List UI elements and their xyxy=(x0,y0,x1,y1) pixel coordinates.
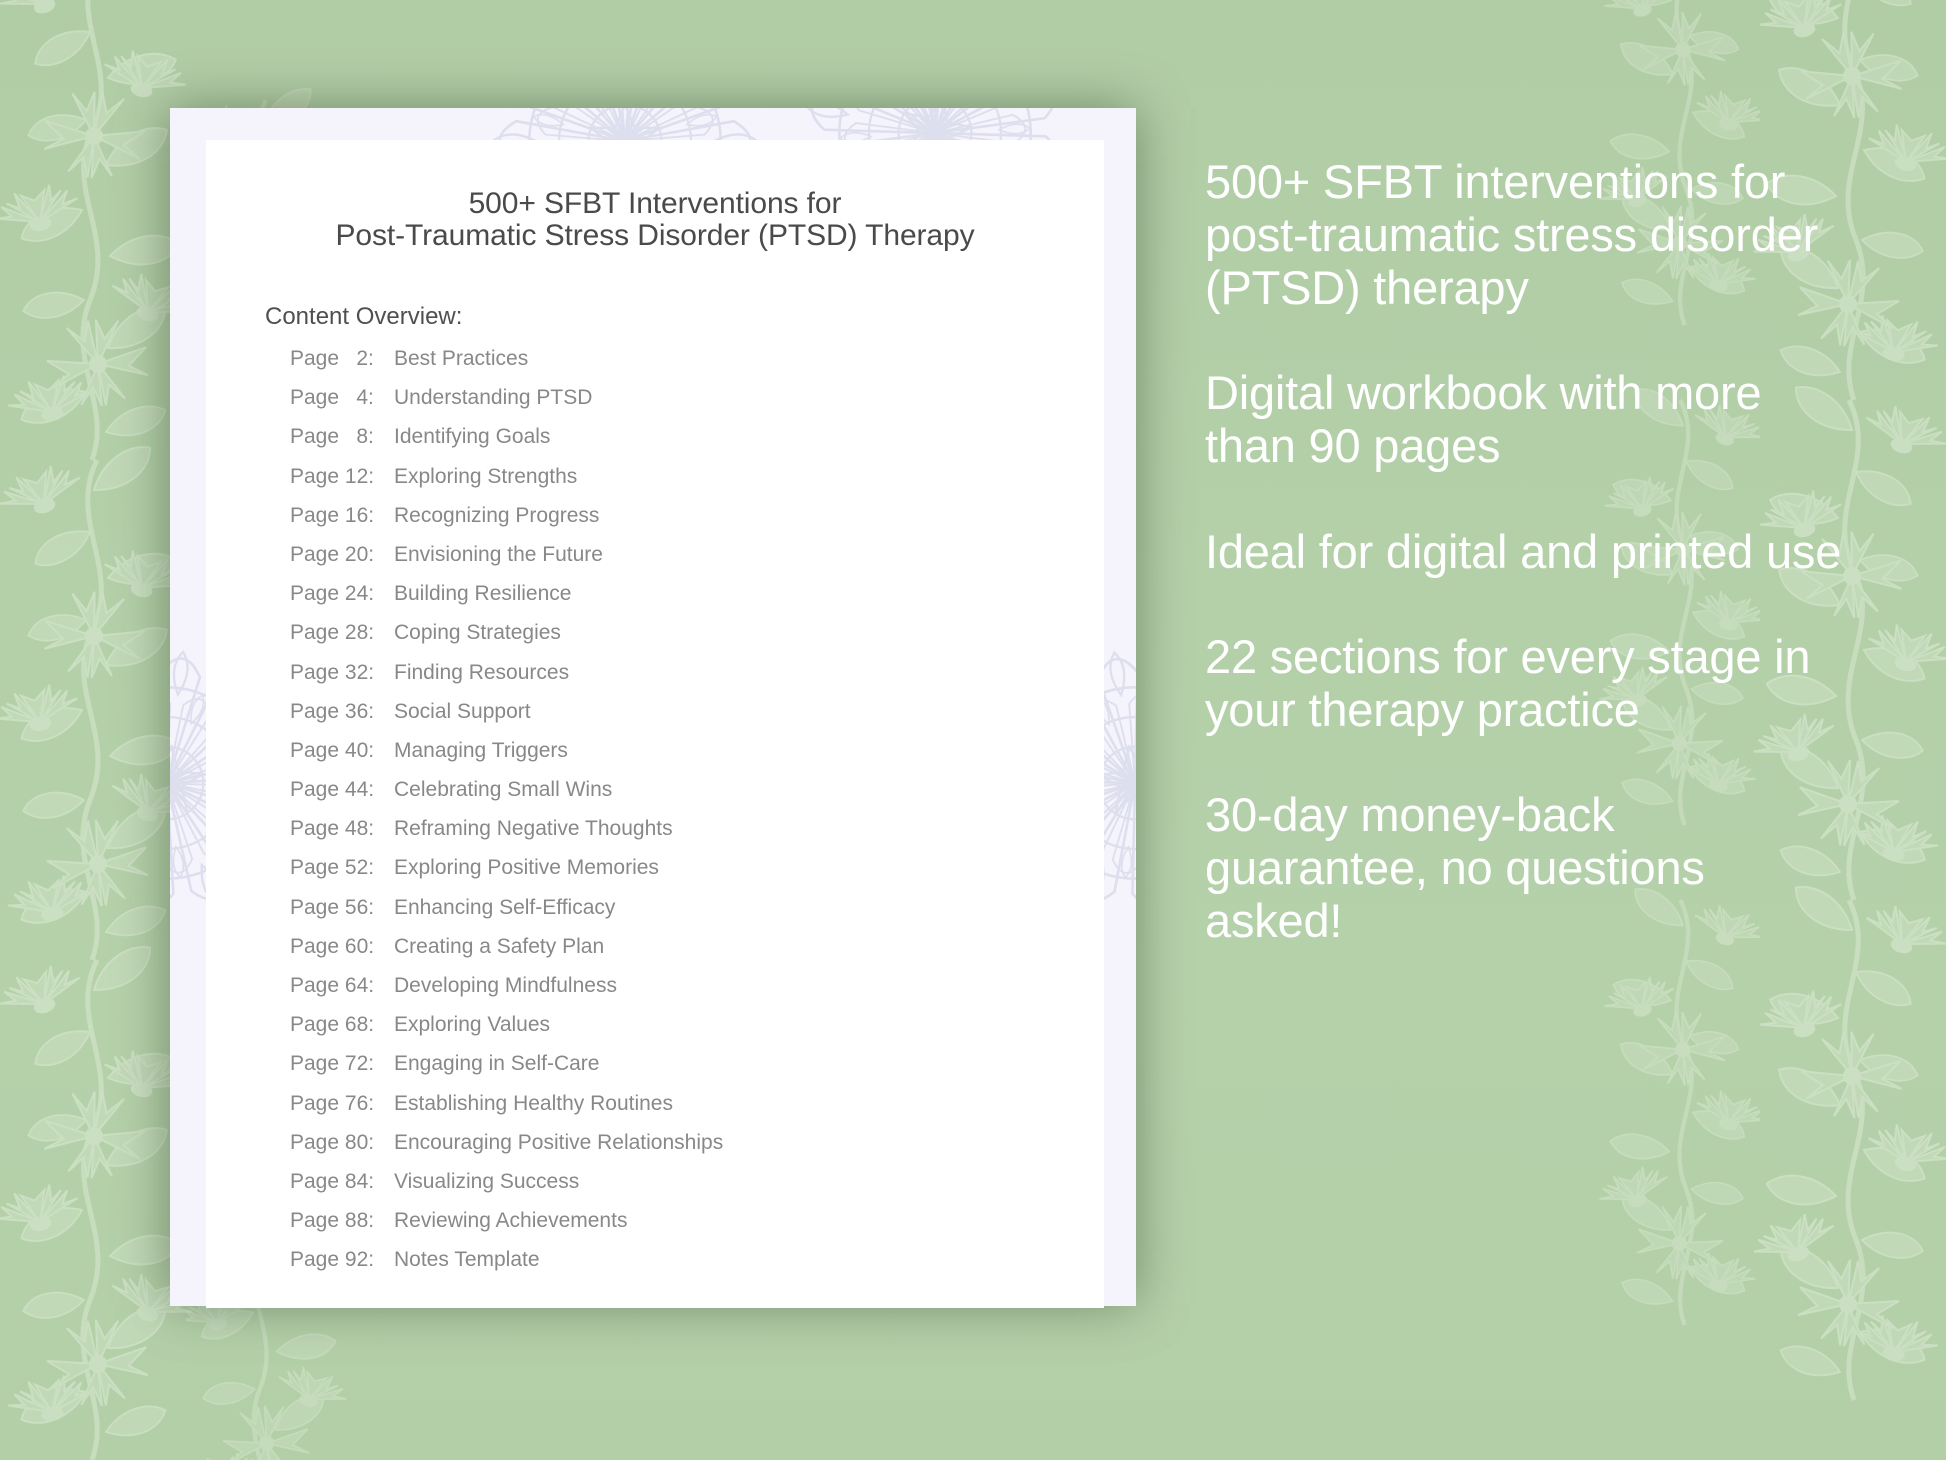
toc-page-number: 36: xyxy=(345,700,374,724)
toc-page-word: Page xyxy=(290,543,345,566)
toc-row-page: Page 80: xyxy=(290,1131,382,1155)
toc-row-page: Page 48: xyxy=(290,817,382,841)
toc-row-title: Developing Mindfulness xyxy=(382,974,617,998)
toc-page-number: 60: xyxy=(345,935,374,959)
toc-page-number: 80: xyxy=(345,1131,374,1155)
toc-row-title: Notes Template xyxy=(382,1248,540,1272)
toc-row-title: Reviewing Achievements xyxy=(382,1209,627,1233)
toc-row-page: Page 36: xyxy=(290,700,382,724)
toc-page-number: 32: xyxy=(345,661,374,685)
toc-page-word: Page xyxy=(290,739,345,762)
toc-row: Page 12:Exploring Strengths xyxy=(265,465,1084,504)
toc-page-number: 4: xyxy=(345,386,374,410)
toc-page-word: Page xyxy=(290,661,345,684)
toc-row: Page 92:Notes Template xyxy=(265,1248,1084,1287)
toc-row-title: Managing Triggers xyxy=(382,739,568,763)
toc-row: Page 72:Engaging in Self-Care xyxy=(265,1052,1084,1091)
toc-row: Page 64:Developing Mindfulness xyxy=(265,974,1084,1013)
toc-row-title: Encouraging Positive Relationships xyxy=(382,1131,723,1155)
toc-page-word: Page xyxy=(290,778,345,801)
toc-row-page: Page 92: xyxy=(290,1248,382,1272)
toc-row: Page 36:Social Support xyxy=(265,700,1084,739)
toc-page-word: Page xyxy=(290,1131,345,1154)
marketing-bullet: 500+ SFBT interventions for post-traumat… xyxy=(1205,155,1845,314)
marketing-bullet: 30-day money-back guarantee, no question… xyxy=(1205,788,1845,947)
title-line-2: Post-Traumatic Stress Disorder (PTSD) Th… xyxy=(206,220,1104,252)
toc-row: Page 48:Reframing Negative Thoughts xyxy=(265,817,1084,856)
toc-row: Page 88:Reviewing Achievements xyxy=(265,1209,1084,1248)
toc-row-title: Exploring Values xyxy=(382,1013,550,1037)
toc-row-title: Engaging in Self-Care xyxy=(382,1052,599,1076)
toc-page-number: 20: xyxy=(345,543,374,567)
toc-row: Page 52:Exploring Positive Memories xyxy=(265,856,1084,895)
toc-page-number: 92: xyxy=(345,1248,374,1272)
toc-row-title: Creating a Safety Plan xyxy=(382,935,604,959)
toc-row-page: Page 40: xyxy=(290,739,382,763)
marketing-bullet: Digital workbook with more than 90 pages xyxy=(1205,366,1845,472)
toc-row-title: Social Support xyxy=(382,700,531,724)
toc-row: Page 60:Creating a Safety Plan xyxy=(265,935,1084,974)
toc-row-title: Reframing Negative Thoughts xyxy=(382,817,673,841)
toc-page-word: Page xyxy=(290,896,345,919)
toc-page-number: 24: xyxy=(345,582,374,606)
toc-row-page: Page 68: xyxy=(290,1013,382,1037)
toc-row: Page 24:Building Resilience xyxy=(265,582,1084,621)
toc-row-title: Coping Strategies xyxy=(382,621,561,645)
marketing-copy-column: 500+ SFBT interventions for post-traumat… xyxy=(1205,155,1845,947)
toc-page-number: 72: xyxy=(345,1052,374,1076)
toc-row-page: Page 76: xyxy=(290,1092,382,1116)
toc-page-word: Page xyxy=(290,1013,345,1036)
toc-page-number: 76: xyxy=(345,1092,374,1116)
toc-page-number: 64: xyxy=(345,974,374,998)
toc-page-number: 28: xyxy=(345,621,374,645)
toc-page-word: Page xyxy=(290,386,345,409)
toc-row-page: Page 56: xyxy=(290,896,382,920)
toc-row: Page 68:Exploring Values xyxy=(265,1013,1084,1052)
toc-row-page: Page 4: xyxy=(290,386,382,410)
marketing-bullet: Ideal for digital and printed use xyxy=(1205,525,1845,578)
toc-page-word: Page xyxy=(290,935,345,958)
toc-row: Page 20:Envisioning the Future xyxy=(265,543,1084,582)
toc-row-title: Enhancing Self-Efficacy xyxy=(382,896,615,920)
toc-row-page: Page 16: xyxy=(290,504,382,528)
page-title: 500+ SFBT Interventions for Post-Traumat… xyxy=(206,188,1104,253)
toc-page-number: 2: xyxy=(345,347,374,371)
toc-row-page: Page 28: xyxy=(290,621,382,645)
toc-page-word: Page xyxy=(290,504,345,527)
document-sheet: 500+ SFBT Interventions for Post-Traumat… xyxy=(206,140,1104,1308)
toc-row-page: Page 44: xyxy=(290,778,382,802)
toc-page-word: Page xyxy=(290,347,345,370)
toc-row-title: Envisioning the Future xyxy=(382,543,603,567)
toc-row-title: Visualizing Success xyxy=(382,1170,579,1194)
toc-page-word: Page xyxy=(290,1092,345,1115)
toc-row-title: Exploring Positive Memories xyxy=(382,856,659,880)
toc-row: Page 8:Identifying Goals xyxy=(265,425,1084,464)
toc-page-number: 88: xyxy=(345,1209,374,1233)
toc-row: Page 28:Coping Strategies xyxy=(265,621,1084,660)
toc-row: Page 4:Understanding PTSD xyxy=(265,386,1084,425)
toc-page-word: Page xyxy=(290,1248,345,1271)
toc-row-title: Recognizing Progress xyxy=(382,504,599,528)
toc-row: Page 44:Celebrating Small Wins xyxy=(265,778,1084,817)
toc-page-word: Page xyxy=(290,700,345,723)
toc-row-page: Page 2: xyxy=(290,347,382,371)
toc-row: Page 84:Visualizing Success xyxy=(265,1170,1084,1209)
toc-row: Page 80:Encouraging Positive Relationshi… xyxy=(265,1131,1084,1170)
toc-row-page: Page 20: xyxy=(290,543,382,567)
toc-row-page: Page 60: xyxy=(290,935,382,959)
table-of-contents: Page 2:Best PracticesPage 4:Understandin… xyxy=(265,347,1084,1288)
toc-page-word: Page xyxy=(290,425,345,448)
toc-row-page: Page 8: xyxy=(290,425,382,449)
toc-row-page: Page 24: xyxy=(290,582,382,606)
toc-row-title: Building Resilience xyxy=(382,582,571,606)
toc-row: Page 32:Finding Resources xyxy=(265,661,1084,700)
toc-row-title: Best Practices xyxy=(382,347,528,371)
toc-page-word: Page xyxy=(290,465,345,488)
content-overview-label: Content Overview: xyxy=(265,303,462,331)
toc-row-page: Page 52: xyxy=(290,856,382,880)
toc-row-page: Page 84: xyxy=(290,1170,382,1194)
toc-page-number: 56: xyxy=(345,896,374,920)
toc-page-word: Page xyxy=(290,621,345,644)
toc-row-title: Exploring Strengths xyxy=(382,465,577,489)
toc-row-title: Finding Resources xyxy=(382,661,569,685)
toc-row-title: Identifying Goals xyxy=(382,425,550,449)
toc-page-number: 12: xyxy=(345,465,374,489)
toc-page-word: Page xyxy=(290,1052,345,1075)
toc-row-title: Celebrating Small Wins xyxy=(382,778,612,802)
toc-page-number: 8: xyxy=(345,425,374,449)
toc-row-page: Page 12: xyxy=(290,465,382,489)
title-line-1: 500+ SFBT Interventions for xyxy=(206,188,1104,220)
toc-row: Page 16:Recognizing Progress xyxy=(265,504,1084,543)
toc-page-word: Page xyxy=(290,817,345,840)
toc-row: Page 56:Enhancing Self-Efficacy xyxy=(265,896,1084,935)
toc-page-number: 84: xyxy=(345,1170,374,1194)
toc-page-word: Page xyxy=(290,1170,345,1193)
toc-page-word: Page xyxy=(290,1209,345,1232)
toc-row: Page 2:Best Practices xyxy=(265,347,1084,386)
toc-page-number: 16: xyxy=(345,504,374,528)
toc-page-number: 40: xyxy=(345,739,374,763)
toc-page-word: Page xyxy=(290,582,345,605)
toc-row-page: Page 64: xyxy=(290,974,382,998)
toc-row-page: Page 32: xyxy=(290,661,382,685)
toc-page-word: Page xyxy=(290,856,345,879)
toc-page-word: Page xyxy=(290,974,345,997)
toc-row-title: Understanding PTSD xyxy=(382,386,592,410)
marketing-bullet: 22 sections for every stage in your ther… xyxy=(1205,630,1845,736)
toc-page-number: 52: xyxy=(345,856,374,880)
toc-row-page: Page 72: xyxy=(290,1052,382,1076)
toc-page-number: 48: xyxy=(345,817,374,841)
toc-row-title: Establishing Healthy Routines xyxy=(382,1092,673,1116)
document-title-block: 500+ SFBT Interventions for Post-Traumat… xyxy=(206,188,1104,253)
product-image-canvas: 500+ SFBT Interventions for Post-Traumat… xyxy=(0,0,1946,1460)
toc-row: Page 40:Managing Triggers xyxy=(265,739,1084,778)
toc-page-number: 44: xyxy=(345,778,374,802)
toc-row: Page 76:Establishing Healthy Routines xyxy=(265,1092,1084,1131)
toc-row-page: Page 88: xyxy=(290,1209,382,1233)
toc-page-number: 68: xyxy=(345,1013,374,1037)
